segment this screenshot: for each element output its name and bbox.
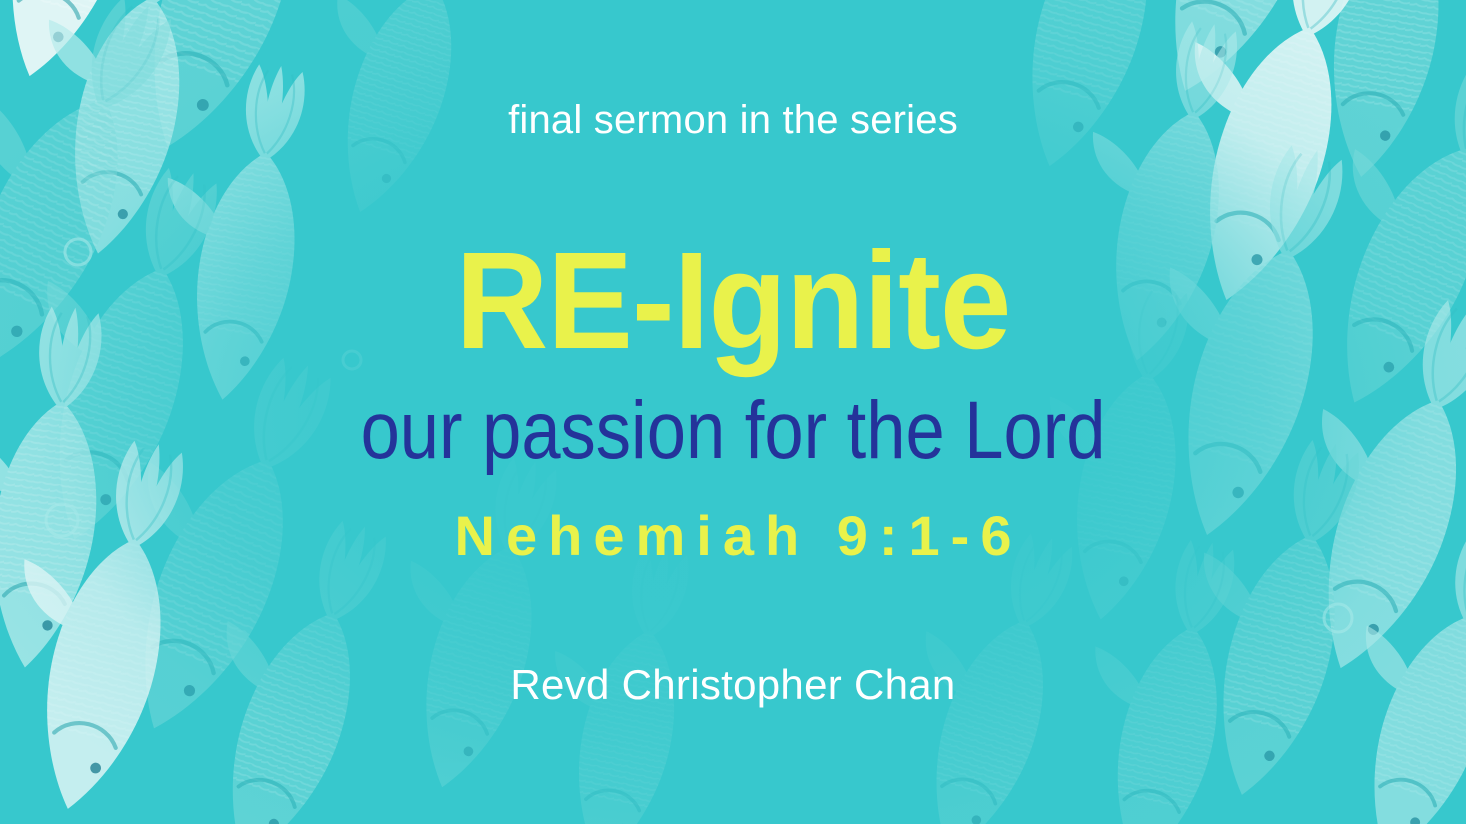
sermon-title-subtitle: our passion for the Lord xyxy=(103,390,1364,472)
scripture-reference: Nehemiah 9:1-6 xyxy=(0,508,1466,564)
sermon-slide: final sermon in the series RE-Ignite our… xyxy=(0,0,1466,824)
speaker-name: Revd Christopher Chan xyxy=(0,664,1466,706)
slide-content: final sermon in the series RE-Ignite our… xyxy=(0,0,1466,824)
sermon-title-main: RE-Ignite xyxy=(51,232,1414,370)
series-eyebrow-text: final sermon in the series xyxy=(0,98,1466,142)
